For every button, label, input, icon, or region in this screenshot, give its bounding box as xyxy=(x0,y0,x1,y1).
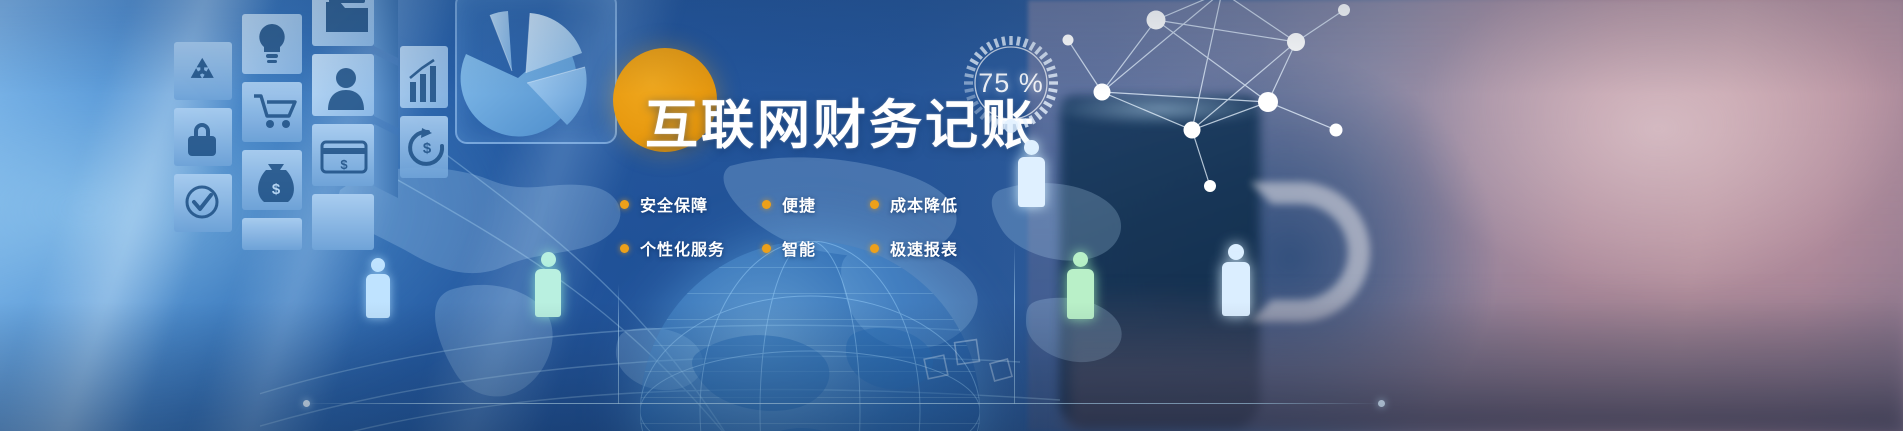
hero-banner: $ $ xyxy=(0,0,1903,431)
vignette-overlay xyxy=(0,0,1903,431)
